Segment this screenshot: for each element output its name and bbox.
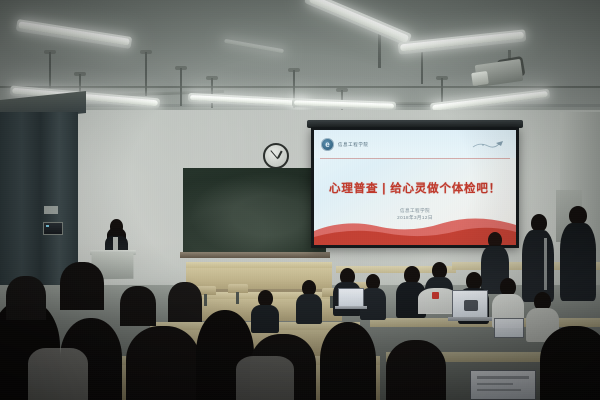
blackboard-chalk-smudge [183,168,326,254]
laptop-base [448,317,492,321]
light-rod [421,50,423,84]
laptop-screen[interactable] [470,370,536,400]
institution-logo-icon: e [321,138,334,151]
slide-wave-graphic [314,211,516,245]
laptop-screen-content [477,389,521,391]
laptop-screen[interactable] [452,290,488,318]
slide-logo: e 信息工程学院 [321,138,369,151]
audience-head [6,276,46,320]
foreground-head [320,322,376,400]
panel-led-icon [46,225,49,227]
foreground-head [540,326,600,400]
seat-post [204,294,207,306]
light-rod [145,52,147,96]
chalk-tray [180,252,330,258]
standing-person-body [522,230,554,302]
light-rod [49,52,51,88]
laptop-screen[interactable] [338,288,364,307]
laptop-screen-content [464,300,478,311]
laptop-base [335,306,367,309]
foreground-head [386,340,446,400]
laptop-screen[interactable] [494,318,524,338]
wall-control-panel[interactable] [43,222,63,235]
audience-light-shirt [28,348,88,400]
slide-title: 心理普查 | 给心灵做个体检吧！ [314,180,516,196]
light-rod [180,68,182,106]
laptop-screen-content [477,376,529,379]
audience-body [296,294,322,324]
slide-header-rule [320,158,510,159]
classroom-photo: e 信息工程学院 心理普查 | 给心灵做个体检吧！ 信息工程学院 2018年3月… [0,0,600,400]
audience-head [168,282,202,322]
slide: e 信息工程学院 心理普查 | 给心灵做个体检吧！ 信息工程学院 2018年3月… [314,130,516,245]
jacket-logo-icon [432,292,439,299]
audience-body [251,305,279,333]
light-rod [211,78,213,108]
wall-label [44,206,58,214]
projector-lens [471,71,489,86]
audience-head [60,262,104,310]
projection-screen: e 信息工程学院 心理普查 | 给心灵做个体检吧！ 信息工程学院 2018年3月… [311,127,519,248]
header-decoration-icon [472,140,506,151]
wall-clock [263,143,289,169]
audience-light-shirt [236,356,294,400]
standing-person-body [560,223,596,301]
institution-name: 信息工程学院 [338,142,369,148]
ceiling-seam [0,86,600,88]
audience-head [120,286,156,326]
jacket-stripe [544,238,547,290]
presenter-collar [113,237,118,251]
foreground-head [126,326,200,400]
seat-post [236,292,239,304]
clock-minute-hand [270,150,278,159]
laptop-screen-content [477,383,513,385]
